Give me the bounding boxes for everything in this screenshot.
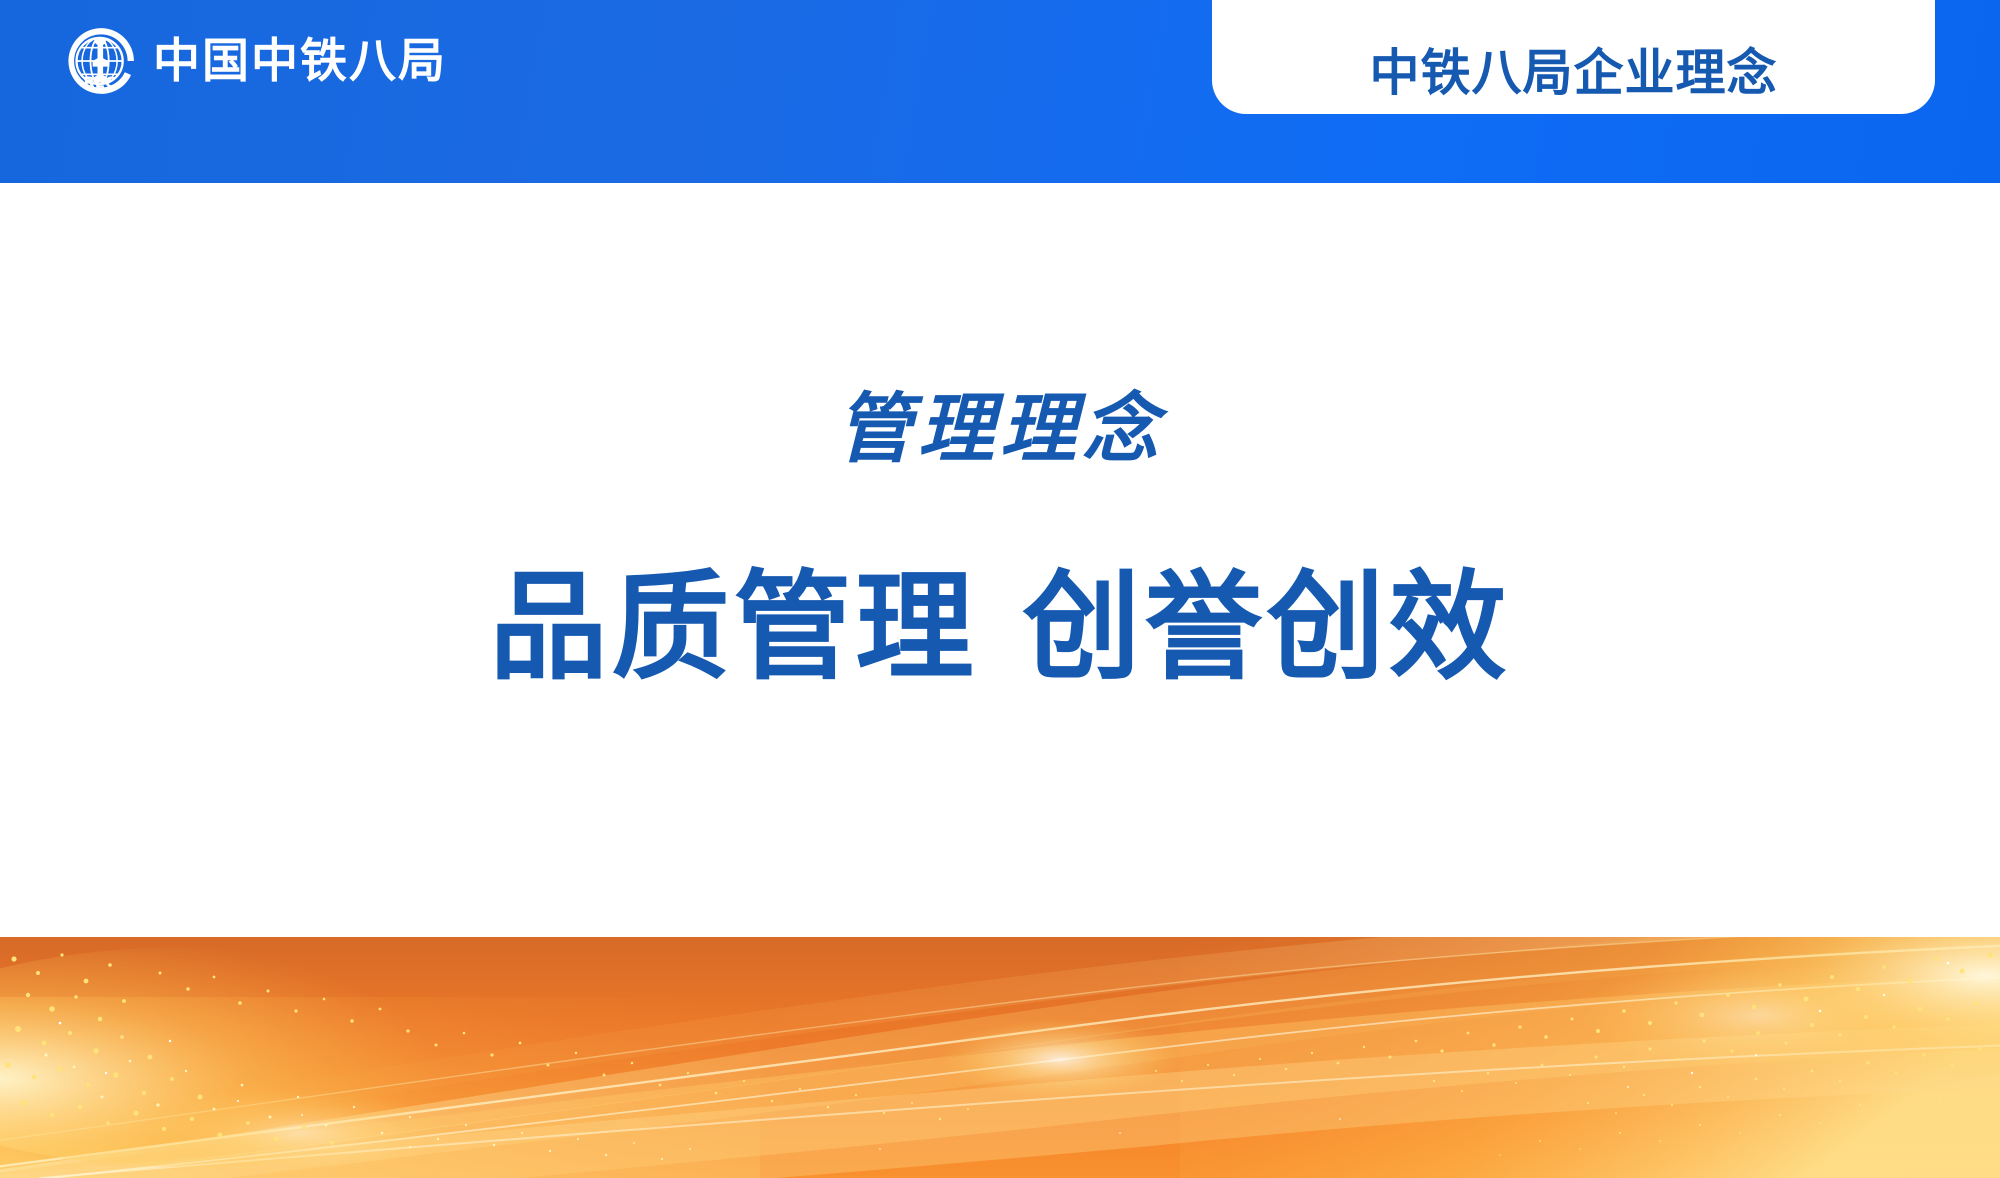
- brand-name: 中国中铁八局: [153, 38, 447, 85]
- content-area: 管理理念 品质管理 创誉创效: [0, 183, 2000, 937]
- corporate-philosophy-badge-label: 中铁八局企业理念: [1370, 48, 1778, 98]
- brand-block: REC 中国中铁八局: [66, 26, 447, 96]
- slide-canvas: REC 中国中铁八局 中铁八局企业理念 管理理念 品质管理 创誉创效: [0, 0, 2000, 1178]
- svg-text:REC: REC: [84, 75, 116, 92]
- china-railway-globe-emblem-icon: REC: [66, 26, 136, 96]
- footer-decoration-banner: [0, 937, 2000, 1178]
- concept-slogan: 品质管理 创誉创效: [0, 568, 2000, 686]
- corporate-philosophy-badge: 中铁八局企业理念: [1212, 0, 1935, 114]
- concept-kicker: 管理理念: [0, 391, 2000, 467]
- header-bar: REC 中国中铁八局 中铁八局企业理念: [0, 0, 2000, 183]
